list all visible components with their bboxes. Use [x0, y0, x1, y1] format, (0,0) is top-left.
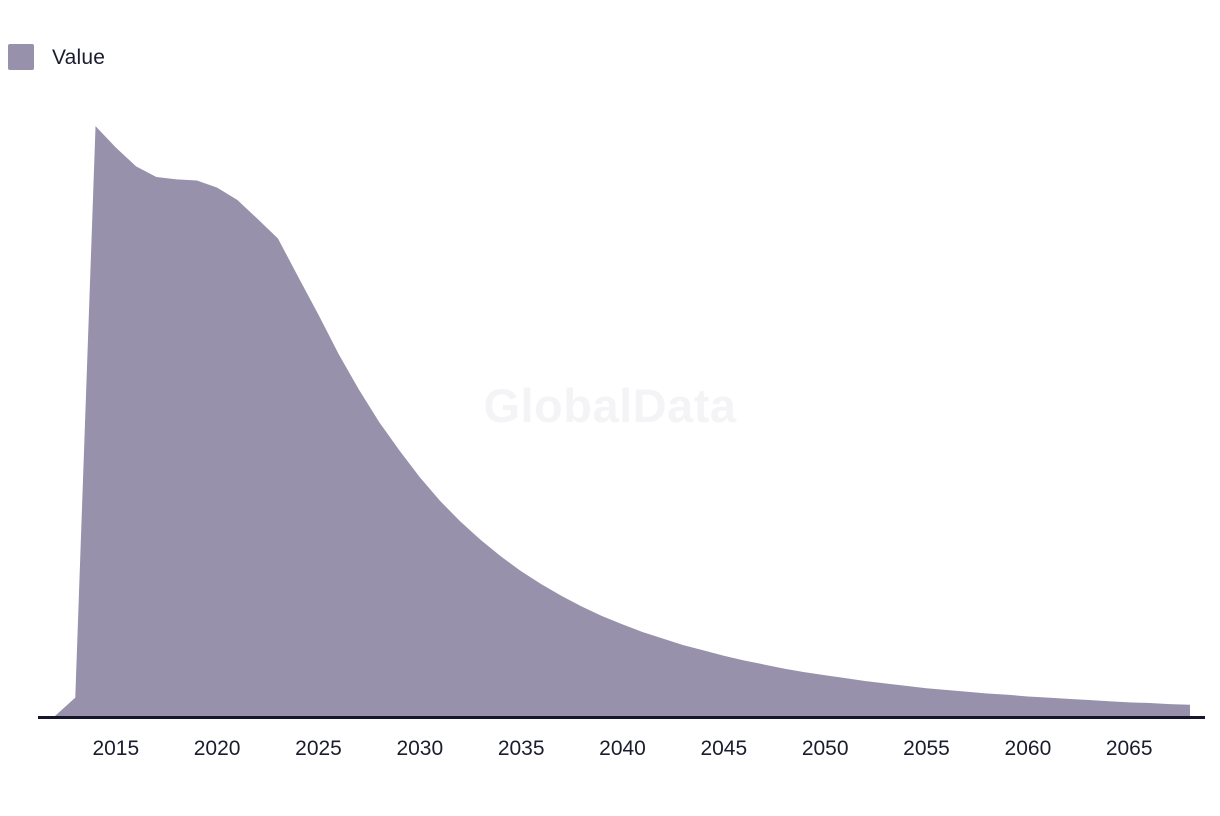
x-axis-tick-2060: 2060 — [1005, 738, 1052, 759]
x-axis-tick-2015: 2015 — [92, 738, 139, 759]
series-area-value — [55, 126, 1190, 716]
x-axis-tick-2050: 2050 — [802, 738, 849, 759]
x-axis-tick-2020: 2020 — [194, 738, 241, 759]
x-axis-tick-2030: 2030 — [396, 738, 443, 759]
x-axis-tick-labels: 2015202020252030203520402045205020552060… — [0, 738, 1220, 772]
x-axis-tick-2025: 2025 — [295, 738, 342, 759]
x-axis-tick-2065: 2065 — [1106, 738, 1153, 759]
x-axis-tick-2055: 2055 — [903, 738, 950, 759]
x-axis-tick-2045: 2045 — [700, 738, 747, 759]
x-axis-tick-2040: 2040 — [599, 738, 646, 759]
plot-area — [0, 0, 1220, 816]
x-axis-tick-2035: 2035 — [498, 738, 545, 759]
area-chart: Value GlobalData 20152020202520302035204… — [0, 0, 1220, 816]
